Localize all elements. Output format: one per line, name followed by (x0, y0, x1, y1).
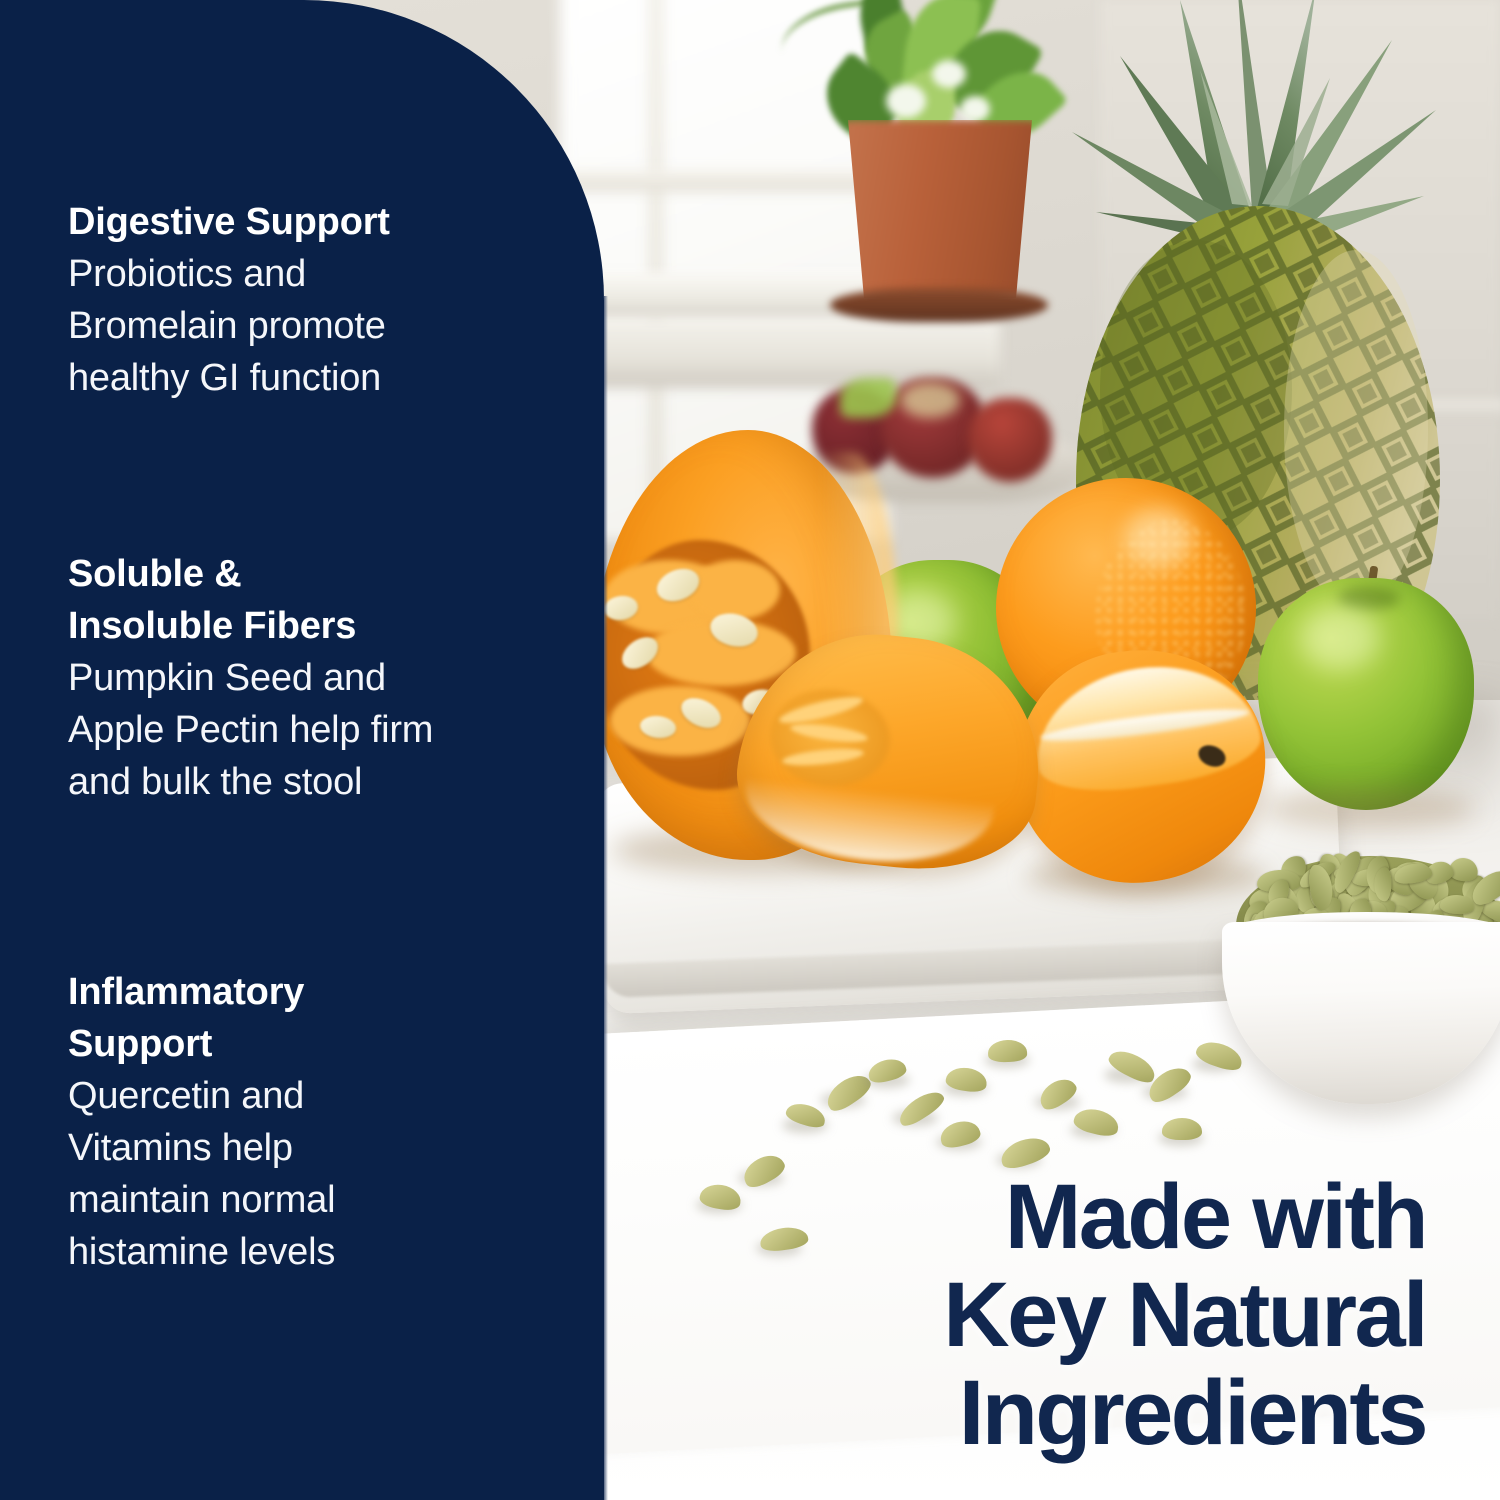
benefit-title: Soluble & Insoluble Fibers (68, 548, 433, 652)
benefit-body-line: healthy GI function (68, 352, 390, 404)
benefit-body-line: histamine levels (68, 1226, 335, 1278)
benefit-body: Pumpkin Seed and Apple Pectin help firm … (68, 652, 433, 808)
plant-bloom (932, 60, 966, 88)
benefit-block-soluble-insoluble-fibers: Soluble & Insoluble Fibers Pumpkin Seed … (68, 548, 433, 808)
window-mullion (648, 0, 664, 520)
pumpkin-seed (1162, 1118, 1202, 1140)
green-sprig (840, 378, 896, 418)
pumpkin-seed (988, 1039, 1028, 1062)
headline-line: Key Natural (726, 1266, 1426, 1364)
benefit-body: Quercetin and Vitamins help maintain nor… (68, 1070, 335, 1278)
panel-edge-highlight (604, 296, 608, 1500)
benefit-body-line: and bulk the stool (68, 756, 433, 808)
headline-line: Made with (726, 1168, 1426, 1266)
benefit-title-line: Support (68, 1018, 335, 1070)
pumpkin-pulp (610, 686, 750, 756)
marketing-image: Digestive Support Probiotics and Bromela… (0, 0, 1500, 1500)
apple-highlight (1300, 606, 1380, 670)
pineapple-crown (1072, 0, 1436, 242)
benefit-title-line: Insoluble Fibers (68, 600, 433, 652)
orange-highlight (1124, 508, 1194, 568)
benefit-title-line: Digestive Support (68, 196, 390, 248)
benefit-body-line: Probiotics and (68, 248, 390, 300)
benefit-title: Digestive Support (68, 196, 390, 248)
benefit-body: Probiotics and Bromelain promote healthy… (68, 248, 390, 404)
benefit-title: Inflammatory Support (68, 966, 335, 1070)
pumpkin-seed (1374, 868, 1391, 902)
apple-shadow (1264, 788, 1474, 830)
plant-bloom (886, 84, 926, 118)
benefit-body-line: Vitamins help (68, 1122, 335, 1174)
window-rail (555, 170, 895, 192)
benefit-body-line: Pumpkin Seed and (68, 652, 433, 704)
headline: Made with Key Natural Ingredients (726, 1168, 1426, 1462)
pumpkin-pulp (690, 560, 780, 620)
benefit-body-line: maintain normal (68, 1174, 335, 1226)
dark-red-fruit-highlight (900, 382, 960, 418)
plant-bloom (960, 96, 990, 122)
benefit-block-digestive-support: Digestive Support Probiotics and Bromela… (68, 196, 390, 404)
benefit-body-line: Apple Pectin help firm (68, 704, 433, 756)
benefit-block-inflammatory-support: Inflammatory Support Quercetin and Vitam… (68, 966, 335, 1278)
headline-line: Ingredients (726, 1364, 1426, 1462)
benefit-title-line: Inflammatory (68, 966, 335, 1018)
benefit-body-line: Bromelain promote (68, 300, 390, 352)
benefit-body-line: Quercetin and (68, 1070, 335, 1122)
benefit-title-line: Soluble & (68, 548, 433, 600)
